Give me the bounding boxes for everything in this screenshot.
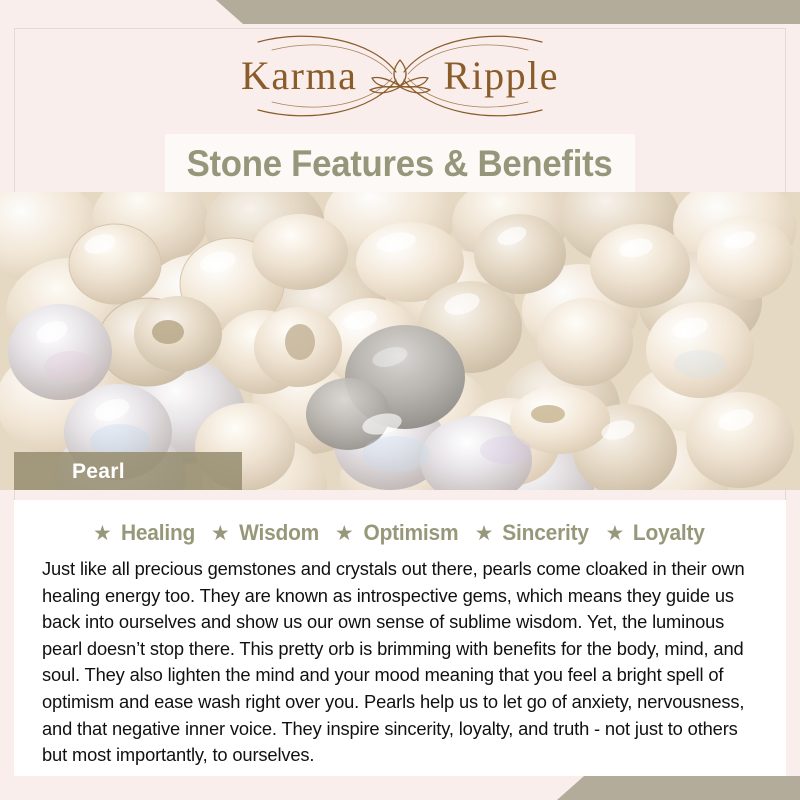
pearl-photo	[0, 192, 800, 490]
brand-word-left: Karma	[241, 56, 357, 96]
description-card: ★ Healing ★ Wisdom ★ Optimism ★ Sincerit…	[14, 500, 786, 776]
poster: Karma Ripple Stone Features & Benefits	[0, 0, 800, 800]
stone-name-label: Pearl	[72, 461, 125, 482]
star-icon: ★	[211, 523, 230, 544]
brand-word-right: Ripple	[443, 56, 559, 96]
star-icon: ★	[93, 523, 112, 544]
keyword-item-wisdom: ★ Wisdom	[211, 522, 321, 544]
page-title: Stone Features & Benefits	[187, 145, 613, 182]
brand-logo: Karma Ripple	[0, 30, 800, 122]
keyword-item-healing: ★ Healing	[93, 522, 197, 544]
description-paragraph: Just like all precious gemstones and cry…	[42, 556, 747, 769]
keyword-list: ★ Healing ★ Wisdom ★ Optimism ★ Sincerit…	[14, 514, 786, 552]
keyword-item-sincerity: ★ Sincerity	[475, 522, 592, 544]
keyword-label: Loyalty	[633, 522, 705, 544]
star-icon: ★	[335, 523, 354, 544]
star-icon: ★	[475, 523, 494, 544]
pearl-photo-image	[0, 192, 800, 490]
keyword-label: Optimism	[363, 522, 458, 544]
keyword-item-optimism: ★ Optimism	[335, 522, 461, 544]
title-banner: Stone Features & Benefits	[165, 134, 635, 192]
keyword-label: Healing	[121, 522, 195, 544]
keyword-label: Sincerity	[503, 522, 590, 544]
keyword-label: Wisdom	[239, 522, 319, 544]
keyword-item-loyalty: ★ Loyalty	[606, 522, 707, 544]
stone-name-badge: Pearl	[14, 452, 242, 490]
star-icon: ★	[606, 523, 625, 544]
